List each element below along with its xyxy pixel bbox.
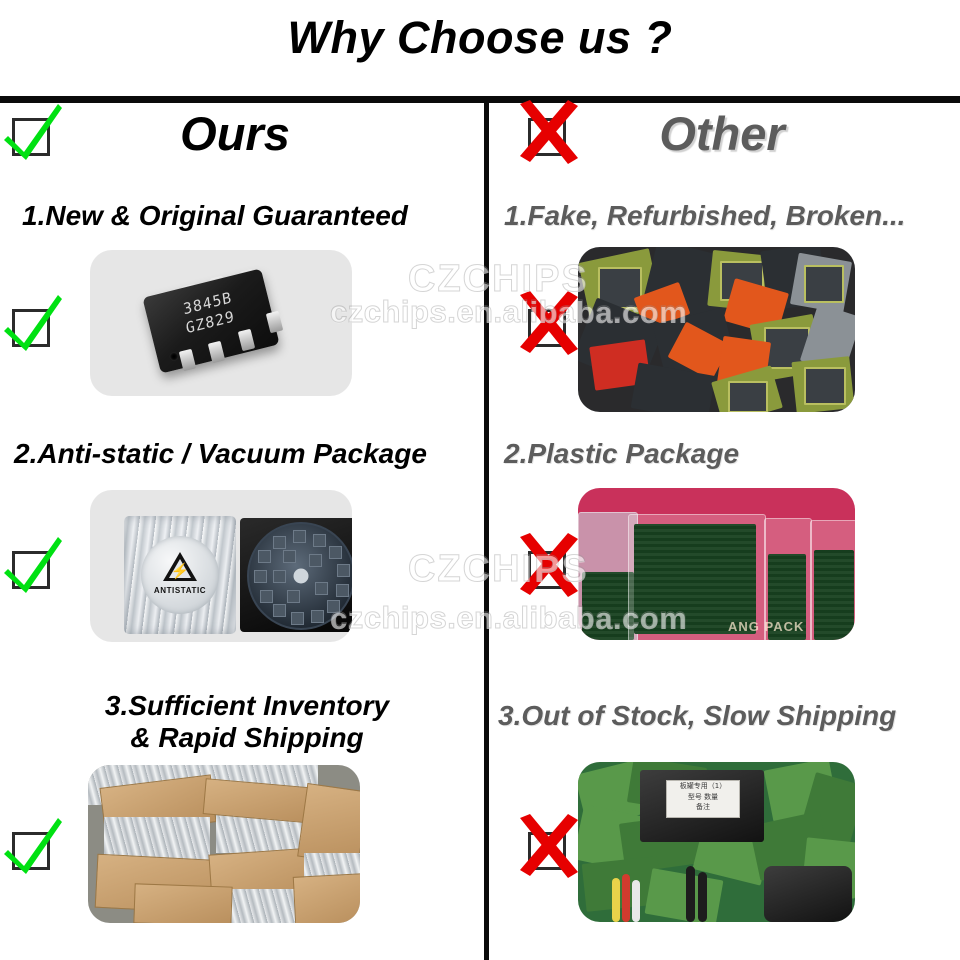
ours-item-2-title: 2.Anti-static / Vacuum Package [14,438,480,470]
check-glyph [0,100,66,166]
column-divider-vertical [484,103,489,960]
check-glyph [0,533,66,599]
check-glyph [0,291,66,357]
ours-item-3-photo [88,765,360,923]
cross-mark-icon [520,295,582,357]
antistatic-bag: ⚡ ANTISTATIC [124,516,236,634]
check-mark-icon [4,537,66,599]
other-item-3-title: 3.Out of Stock, Slow Shipping [498,700,958,732]
other-item-1-photo [578,247,855,412]
antistatic-label-text: ANTISTATIC [141,586,219,595]
component-reel-box [240,518,352,632]
module-label-text: 板罐专用（1） 型号 数量 备注 [667,781,739,813]
cross-glyph [516,291,582,357]
cross-glyph [516,533,582,599]
page-title: Why Choose us ? [0,12,960,64]
module-label: 板罐专用（1） 型号 数量 备注 [666,780,740,818]
other-item-2-photo: ANG PACK [578,488,855,640]
cross-glyph [516,100,582,166]
check-mark-icon [4,818,66,880]
check-glyph [0,814,66,880]
ours-item-2-photo: ⚡ ANTISTATIC [90,490,352,642]
cross-mark-icon [520,537,582,599]
component-reel [247,522,352,630]
ours-item-1-title: 1.New & Original Guaranteed [22,200,472,232]
package-overlay-text: ANG PACK [728,619,804,634]
check-mark-icon [4,295,66,357]
cross-mark-icon [520,104,582,166]
reel-hub [294,569,309,584]
ours-item-3-title: 3.Sufficient Inventory & Rapid Shipping [14,690,480,754]
ours-item-1-photo: 3845B GZ829 [90,250,352,396]
other-item-2-title: 2.Plastic Package [504,438,954,470]
other-item-1-title: 1.Fake, Refurbished, Broken... [504,200,954,232]
header-divider-horizontal [0,96,960,103]
lightning-bolt-icon: ⚡ [171,564,190,579]
check-mark-icon [4,104,66,166]
column-header-ours: Ours [0,106,470,161]
other-item-3-photo: 板罐专用（1） 型号 数量 备注 [578,762,855,922]
chip-pin1-dot [169,351,180,362]
cross-glyph [516,814,582,880]
antistatic-label-disc: ⚡ ANTISTATIC [141,536,219,614]
black-module: 板罐专用（1） 型号 数量 备注 [640,770,764,842]
cross-mark-icon [520,818,582,880]
